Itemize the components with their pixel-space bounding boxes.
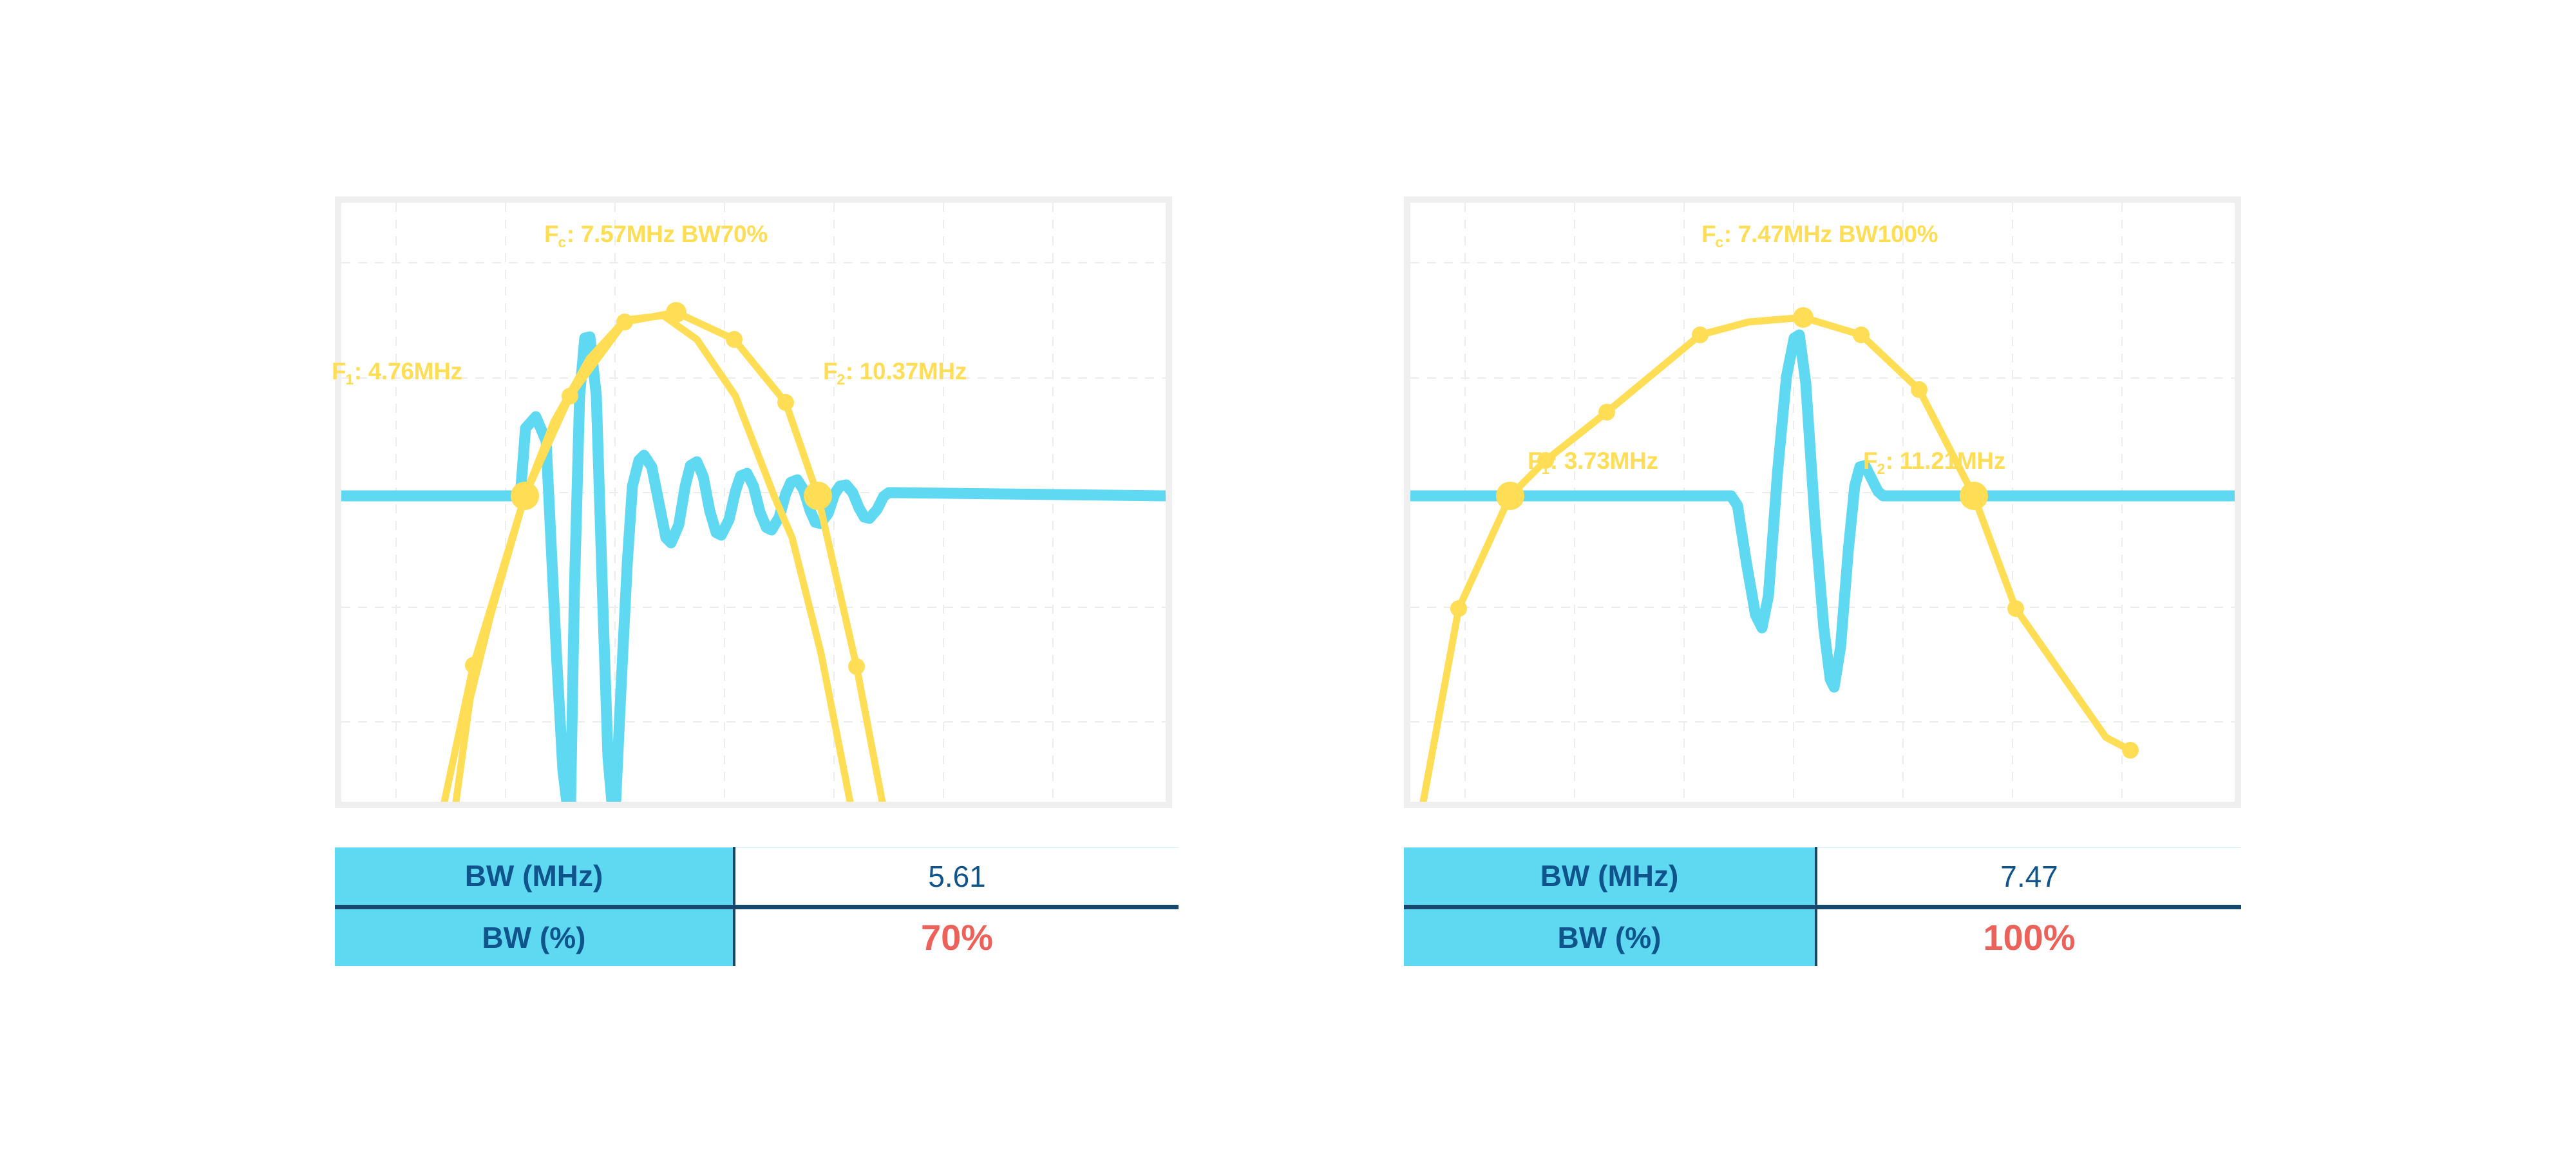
f1-text: : 4.76MHz bbox=[354, 358, 462, 384]
right-bw-pct-label: BW (%) bbox=[1404, 907, 1816, 966]
table-row: BW (%) 100% bbox=[1404, 907, 2241, 966]
f1-subscript: 1 bbox=[1541, 460, 1549, 477]
f1-symbol: F bbox=[332, 358, 346, 384]
table-row: BW (MHz) 5.61 bbox=[335, 847, 1179, 907]
left-chart-plot bbox=[341, 203, 1166, 802]
right-f2-marker bbox=[1960, 482, 1988, 510]
right-chart-frame: Fc: 7.47MHz BW100% F1: 3.73MHz F2: 11.21… bbox=[1404, 196, 2241, 808]
f2-symbol: F bbox=[1863, 448, 1877, 474]
fc-symbol: F bbox=[544, 221, 558, 247]
bandwidth-comparison-figure: Fc: 7.57MHz BW70% F1: 4.76MHz F2: 10.37M… bbox=[0, 0, 2576, 1154]
right-spectrum-markers bbox=[1450, 307, 2139, 759]
fc-subscript: c bbox=[558, 234, 565, 251]
left-bw-pct-value: 70% bbox=[734, 907, 1179, 966]
left-chart-svg bbox=[341, 203, 1166, 802]
right-fc-annotation: Fc: 7.47MHz BW100% bbox=[1701, 222, 1938, 246]
f1-subscript: 1 bbox=[345, 371, 353, 388]
fc-text: : 7.47MHz BW100% bbox=[1724, 221, 1938, 247]
right-chart-svg bbox=[1410, 203, 2235, 802]
right-waveform-curve bbox=[1410, 335, 2235, 687]
left-bw-pct-label: BW (%) bbox=[335, 907, 734, 966]
right-spectrum-curve bbox=[1423, 317, 2130, 802]
left-chart-frame: Fc: 7.57MHz BW70% F1: 4.76MHz F2: 10.37M… bbox=[335, 196, 1172, 808]
right-f1-annotation: F1: 3.73MHz bbox=[1528, 449, 1658, 473]
left-bw-mhz-value: 5.61 bbox=[734, 847, 1179, 907]
left-fc-annotation: Fc: 7.57MHz BW70% bbox=[544, 222, 768, 246]
f2-text: : 11.21MHz bbox=[1886, 448, 2005, 474]
right-f1-marker bbox=[1496, 482, 1524, 510]
left-result-table: BW (MHz) 5.61 BW (%) 70% bbox=[335, 847, 1179, 966]
f2-subscript: 2 bbox=[1877, 460, 1884, 477]
right-f2-annotation: F2: 11.21MHz bbox=[1863, 449, 2005, 473]
fc-subscript: c bbox=[1715, 234, 1723, 251]
f2-text: : 10.37MHz bbox=[846, 358, 967, 384]
fc-symbol: F bbox=[1701, 221, 1716, 247]
table-row: BW (MHz) 7.47 bbox=[1404, 847, 2241, 907]
left-f1-annotation: F1: 4.76MHz bbox=[332, 359, 462, 383]
right-bw-pct-value: 100% bbox=[1816, 907, 2241, 966]
right-chart-plot bbox=[1410, 203, 2235, 802]
left-f2-marker bbox=[804, 482, 832, 510]
right-result-table: BW (MHz) 7.47 BW (%) 100% bbox=[1404, 847, 2241, 966]
f1-text: : 3.73MHz bbox=[1550, 448, 1658, 474]
left-f1-marker bbox=[511, 482, 539, 510]
f1-symbol: F bbox=[1528, 448, 1542, 474]
right-bw-mhz-label: BW (MHz) bbox=[1404, 847, 1816, 907]
left-spectrum-curve bbox=[456, 316, 850, 802]
left-bw-mhz-label: BW (MHz) bbox=[335, 847, 734, 907]
table-row: BW (%) 70% bbox=[335, 907, 1179, 966]
f2-subscript: 2 bbox=[837, 371, 844, 388]
f2-symbol: F bbox=[823, 358, 837, 384]
fc-text: : 7.57MHz BW70% bbox=[567, 221, 768, 247]
left-f2-annotation: F2: 10.37MHz bbox=[823, 359, 967, 383]
right-bw-mhz-value: 7.47 bbox=[1816, 847, 2241, 907]
right-gridlines bbox=[1410, 203, 2235, 802]
